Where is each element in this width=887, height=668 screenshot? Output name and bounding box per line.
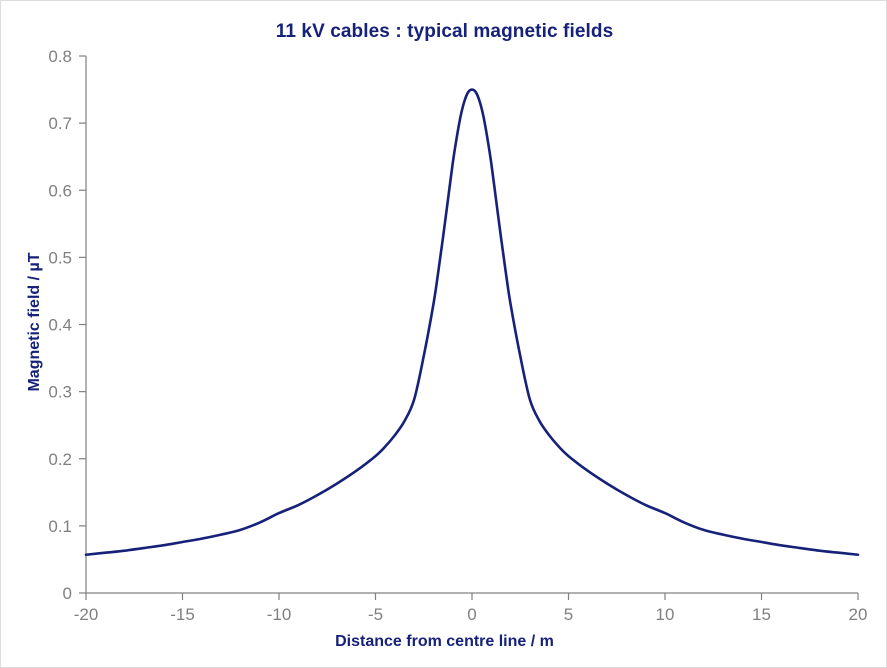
y-axis-tick-labels: 00.10.20.30.40.50.60.70.8 — [48, 47, 72, 603]
x-tick-label: -15 — [170, 605, 195, 624]
y-tick-label: 0.8 — [48, 47, 72, 66]
y-tick-label: 0.4 — [48, 316, 72, 335]
plot-area: 00.10.20.30.40.50.60.70.8 -20-15-10-5051… — [1, 1, 887, 668]
axis-tick-marks — [79, 56, 858, 600]
y-tick-label: 0.2 — [48, 450, 72, 469]
data-series-group — [86, 90, 858, 555]
x-tick-label: 0 — [467, 605, 476, 624]
y-axis-label: Magnetic field / µT — [26, 202, 44, 442]
y-tick-label: 0.5 — [48, 248, 72, 267]
y-tick-label: 0.3 — [48, 383, 72, 402]
y-tick-label: 0.7 — [48, 114, 72, 133]
x-axis-tick-labels: -20-15-10-505101520 — [74, 605, 868, 624]
x-tick-label: 20 — [849, 605, 868, 624]
y-tick-label: 0.1 — [48, 517, 72, 536]
x-tick-label: 10 — [656, 605, 675, 624]
x-tick-label: -20 — [74, 605, 99, 624]
x-tick-label: 5 — [564, 605, 573, 624]
data-series-line — [86, 90, 858, 555]
chart-figure: 11 kV cables : typical magnetic fields 0… — [0, 0, 887, 668]
y-tick-label: 0.6 — [48, 181, 72, 200]
x-tick-label: -10 — [267, 605, 292, 624]
x-axis-label: Distance from centre line / m — [1, 633, 887, 651]
x-tick-label: -5 — [368, 605, 383, 624]
y-tick-label: 0 — [63, 584, 72, 603]
x-tick-label: 15 — [752, 605, 771, 624]
